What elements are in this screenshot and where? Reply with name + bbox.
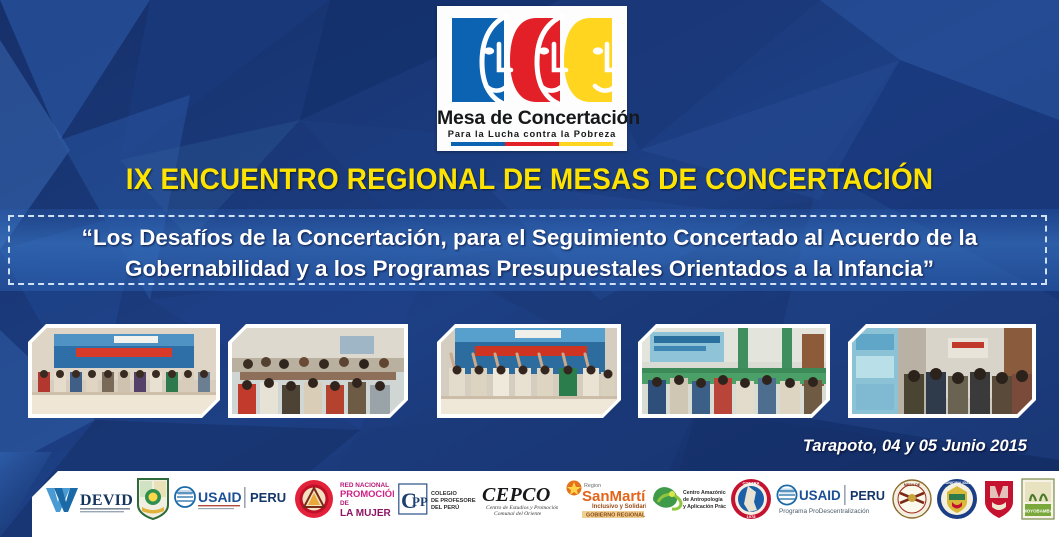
svg-text:MOYOBAMBA: MOYOBAMBA bbox=[1023, 509, 1054, 514]
svg-text:PERU: PERU bbox=[250, 490, 286, 505]
photo-thumbnail bbox=[28, 324, 220, 418]
event-date: Tarapoto, 04 y 05 Junio 2015 bbox=[803, 437, 1027, 456]
photo-raised-hands-panel bbox=[441, 328, 617, 414]
svg-text:SanMartín: SanMartín bbox=[582, 488, 646, 505]
photo-meeting-u-table bbox=[232, 328, 404, 414]
logo-tricolor-bar bbox=[451, 142, 613, 146]
svg-text:1978: 1978 bbox=[747, 514, 757, 519]
seal-green-crest-logo: MOYOBAMBA bbox=[1018, 476, 1058, 522]
seal-peru-map-logo: CONTRA 1978 bbox=[728, 476, 774, 522]
svg-text:PERU: PERU bbox=[850, 489, 885, 503]
event-theme-line-2: Gobernabilidad y a los Programas Presupu… bbox=[14, 253, 1045, 284]
svg-text:PROMOCIÓN: PROMOCIÓN bbox=[340, 488, 394, 499]
svg-text:MESA DE: MESA DE bbox=[904, 483, 921, 487]
svg-text:Comunal del Oriente: Comunal del Oriente bbox=[494, 511, 542, 517]
san-martin-logo: Region SanMartín Inclusivo y Solidario G… bbox=[560, 476, 648, 522]
svg-text:USAID: USAID bbox=[799, 488, 841, 503]
svg-text:y Aplicación Práctica: y Aplicación Práctica bbox=[683, 504, 726, 510]
photo-panel-head-table bbox=[32, 328, 216, 414]
cepco-logo: CEPCO Centro de Estudios y Promoción Com… bbox=[478, 476, 560, 522]
event-banner: Mesa de Concertación Para la Lucha contr… bbox=[0, 0, 1059, 537]
photo-thumbnail bbox=[228, 324, 408, 418]
seal-red-crest-logo bbox=[980, 476, 1018, 522]
devida-logo: DEVIDA bbox=[42, 476, 134, 522]
svg-text:PP: PP bbox=[412, 494, 428, 509]
svg-text:COLEGIO: COLEGIO bbox=[431, 491, 457, 497]
seal-red-triangle-logo bbox=[292, 476, 336, 522]
regional-shield-logo bbox=[134, 476, 172, 522]
svg-text:de Antropología: de Antropología bbox=[683, 497, 723, 503]
svg-text:Centro Amazónico: Centro Amazónico bbox=[683, 490, 726, 496]
svg-text:DEL PERÚ: DEL PERÚ bbox=[431, 504, 459, 511]
svg-text:DE PROFESORES: DE PROFESORES bbox=[431, 498, 476, 504]
colegio-profesores-logo: C PP COLEGIO DE PROFESORES DEL PERÚ bbox=[396, 476, 478, 522]
logo-title: Mesa de Concertación bbox=[437, 107, 627, 130]
seal-ribbon-logo: MESA DE bbox=[890, 476, 934, 522]
svg-text:CEPCO: CEPCO bbox=[482, 484, 551, 506]
svg-text:Inclusivo y Solidario: Inclusivo y Solidario bbox=[592, 504, 646, 510]
three-faces-icon bbox=[450, 14, 614, 106]
svg-text:USAID: USAID bbox=[198, 489, 242, 505]
red-nacional-mujer-logo: RED NACIONAL PROMOCIÓN DE LA MUJER bbox=[336, 476, 396, 522]
svg-text:CONTRA: CONTRA bbox=[742, 481, 759, 486]
svg-text:MUNICIPALIDAD: MUNICIPALIDAD bbox=[943, 481, 972, 485]
svg-text:LA MUJER: LA MUJER bbox=[340, 508, 392, 519]
photo-thumbnail bbox=[437, 324, 621, 418]
logo-subtitle: Para la Lucha contra la Pobreza bbox=[437, 129, 627, 139]
svg-text:Programa ProDescentralización: Programa ProDescentralización bbox=[779, 508, 870, 515]
photo-auditorium-audience bbox=[852, 328, 1032, 414]
photo-thumbnail bbox=[848, 324, 1036, 418]
usaid-peru-logo: USAID PERU bbox=[172, 476, 292, 522]
svg-text:GOBIERNO REGIONAL: GOBIERNO REGIONAL bbox=[586, 512, 646, 518]
caaap-logo: Centro Amazónico de Antropología y Aplic… bbox=[648, 476, 728, 522]
svg-text:DE: DE bbox=[340, 500, 350, 507]
mesa-de-concertacion-logo: Mesa de Concertación Para la Lucha contr… bbox=[437, 6, 627, 151]
photo-thumbnail bbox=[638, 324, 830, 418]
event-theme: “Los Desafíos de la Concertación, para e… bbox=[14, 222, 1045, 284]
usaid-prodescentralizacion-logo: USAID PERU Programa ProDescentralización bbox=[774, 476, 890, 522]
photo-green-tables-assembly bbox=[642, 328, 826, 414]
event-theme-line-1: “Los Desafíos de la Concertación, para e… bbox=[14, 222, 1045, 253]
page-title: IX ENCUENTRO REGIONAL DE MESAS DE CONCER… bbox=[37, 163, 1022, 197]
sponsor-logo-bar: DEVIDA bbox=[32, 471, 1059, 537]
svg-text:DEVIDA: DEVIDA bbox=[80, 492, 132, 509]
seal-municipal-logo: MUNICIPALIDAD bbox=[934, 476, 980, 522]
